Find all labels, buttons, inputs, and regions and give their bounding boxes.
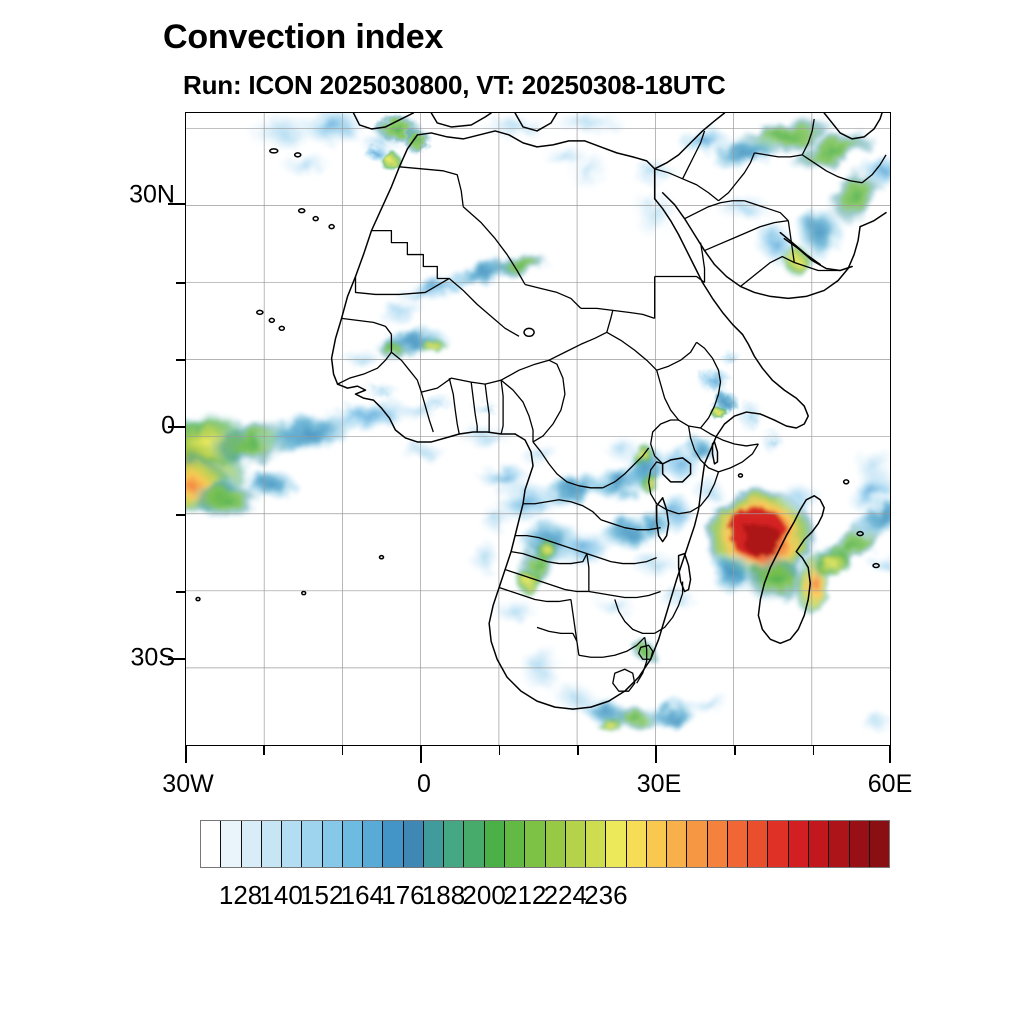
colorbar-tick-label: 236 <box>584 880 627 911</box>
colorbar-segment <box>485 821 505 867</box>
colorbar-segment <box>647 821 667 867</box>
colorbar-segment <box>323 821 343 867</box>
ytick-minor-mark <box>176 591 185 593</box>
colorbar-segment <box>829 821 849 867</box>
colorbar-segment <box>525 821 545 867</box>
colorbar-tick-label: 128 <box>219 880 262 911</box>
colorbar-segment <box>566 821 586 867</box>
colorbar-tick-label: 200 <box>462 880 505 911</box>
ytick-label-30s: 30S <box>105 644 175 673</box>
colorbar-segment <box>687 821 707 867</box>
xtick-minor-mark <box>499 746 501 755</box>
colorbar-tick-label: 176 <box>381 880 424 911</box>
map-coastlines-and-borders <box>186 113 890 745</box>
colorbar-tick-label: 212 <box>503 880 546 911</box>
xtick-minor-mark <box>263 746 265 755</box>
coastlines <box>196 113 886 709</box>
page-title: Convection index <box>163 18 443 57</box>
xtick-label-30e: 30E <box>637 770 681 799</box>
ytick-minor-mark <box>176 359 185 361</box>
colorbar-segment <box>667 821 687 867</box>
ytick-mark-0 <box>168 426 185 428</box>
colorbar-segment <box>262 821 282 867</box>
colorbar-segment <box>870 821 889 867</box>
run-valid-time-subtitle: Run: ICON 2025030800, VT: 20250308-18UTC <box>183 70 726 101</box>
xtick-mark-0 <box>420 746 422 763</box>
colorbar-segment <box>444 821 464 867</box>
colorbar-segment <box>546 821 566 867</box>
colorbar-tick-label: 224 <box>544 880 587 911</box>
colorbar-segment <box>586 821 606 867</box>
ytick-mark-30n <box>168 203 185 205</box>
xtick-minor-mark <box>342 746 344 755</box>
ytick-mark-30s <box>168 658 185 660</box>
colorbar-segment <box>789 821 809 867</box>
colorbar-segment <box>302 821 322 867</box>
colorbar-segment <box>505 821 525 867</box>
graticule <box>186 113 890 745</box>
xtick-mark-60e <box>889 746 891 763</box>
colorbar-segment <box>708 821 728 867</box>
colorbar-segment <box>242 821 262 867</box>
ytick-label-0: 0 <box>105 412 175 441</box>
map-plot-area[interactable] <box>185 112 891 746</box>
colorbar-tick-label: 188 <box>422 880 465 911</box>
colorbar-segment <box>606 821 626 867</box>
colorbar-segment <box>221 821 241 867</box>
xtick-minor-mark <box>734 746 736 755</box>
colorbar-segment <box>768 821 788 867</box>
xtick-label-0: 0 <box>417 770 431 799</box>
colorbar-segment <box>627 821 647 867</box>
colorbar-segment <box>282 821 302 867</box>
colorbar-tick-label: 152 <box>300 880 343 911</box>
xtick-mark-30e <box>655 746 657 763</box>
colorbar-segment <box>850 821 870 867</box>
ytick-minor-mark <box>176 282 185 284</box>
ytick-label-30n: 30N <box>105 181 175 210</box>
colorbar-segment <box>383 821 403 867</box>
colorbar-segment <box>464 821 484 867</box>
colorbar-segment <box>201 821 221 867</box>
xtick-label-30w: 30W <box>162 770 213 799</box>
colorbar-segment <box>343 821 363 867</box>
colorbar-segment <box>728 821 748 867</box>
xtick-mark-30w <box>185 746 187 763</box>
colorbar-segment <box>424 821 444 867</box>
colorbar-segment <box>404 821 424 867</box>
xtick-label-60e: 60E <box>868 770 912 799</box>
xtick-minor-mark <box>813 746 815 755</box>
colorbar-tick-label: 164 <box>341 880 384 911</box>
colorbar-tick-label: 140 <box>259 880 302 911</box>
colorbar-segment <box>809 821 829 867</box>
colorbar[interactable] <box>200 820 890 868</box>
xtick-minor-mark <box>577 746 579 755</box>
colorbar-segment <box>363 821 383 867</box>
colorbar-segment <box>748 821 768 867</box>
ytick-minor-mark <box>176 514 185 516</box>
